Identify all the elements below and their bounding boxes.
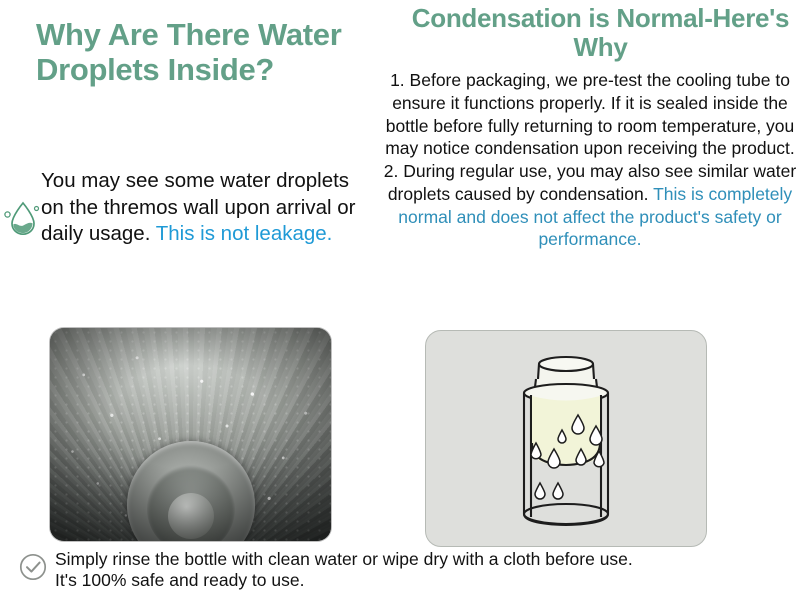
right-column-body: 1. Before packaging, we pre-test the coo… [383,69,797,251]
paragraph-2-number: 2. [384,161,399,181]
left-column-body: You may see some water droplets on the t… [41,168,361,248]
check-circle-icon [18,552,48,582]
water-droplet-icon [3,196,43,238]
left-column-heading: Why Are There Water Droplets Inside? [36,18,366,87]
thermos-interior-condensation-photo [50,328,331,541]
paragraph-1-plain-text: Before packaging, we pre-test the coolin… [385,70,795,158]
footer-line-1: Simply rinse the bottle with clean water… [55,549,633,569]
right-body-paragraph-2: 2. During regular use, you may also see … [383,160,797,251]
footer-note: Simply rinse the bottle with clean water… [55,549,795,592]
paragraph-1-number: 1. [390,70,405,90]
photo-vignette [50,328,331,541]
right-column-heading: Condensation is Normal-Here's Why [408,4,793,63]
footer-line-2: It's 100% safe and ready to use. [55,570,304,590]
left-body-accent-text: This is not leakage. [156,222,333,245]
right-body-paragraph-1: 1. Before packaging, we pre-test the coo… [383,69,797,160]
bottle-condensation-illustration [425,330,707,547]
